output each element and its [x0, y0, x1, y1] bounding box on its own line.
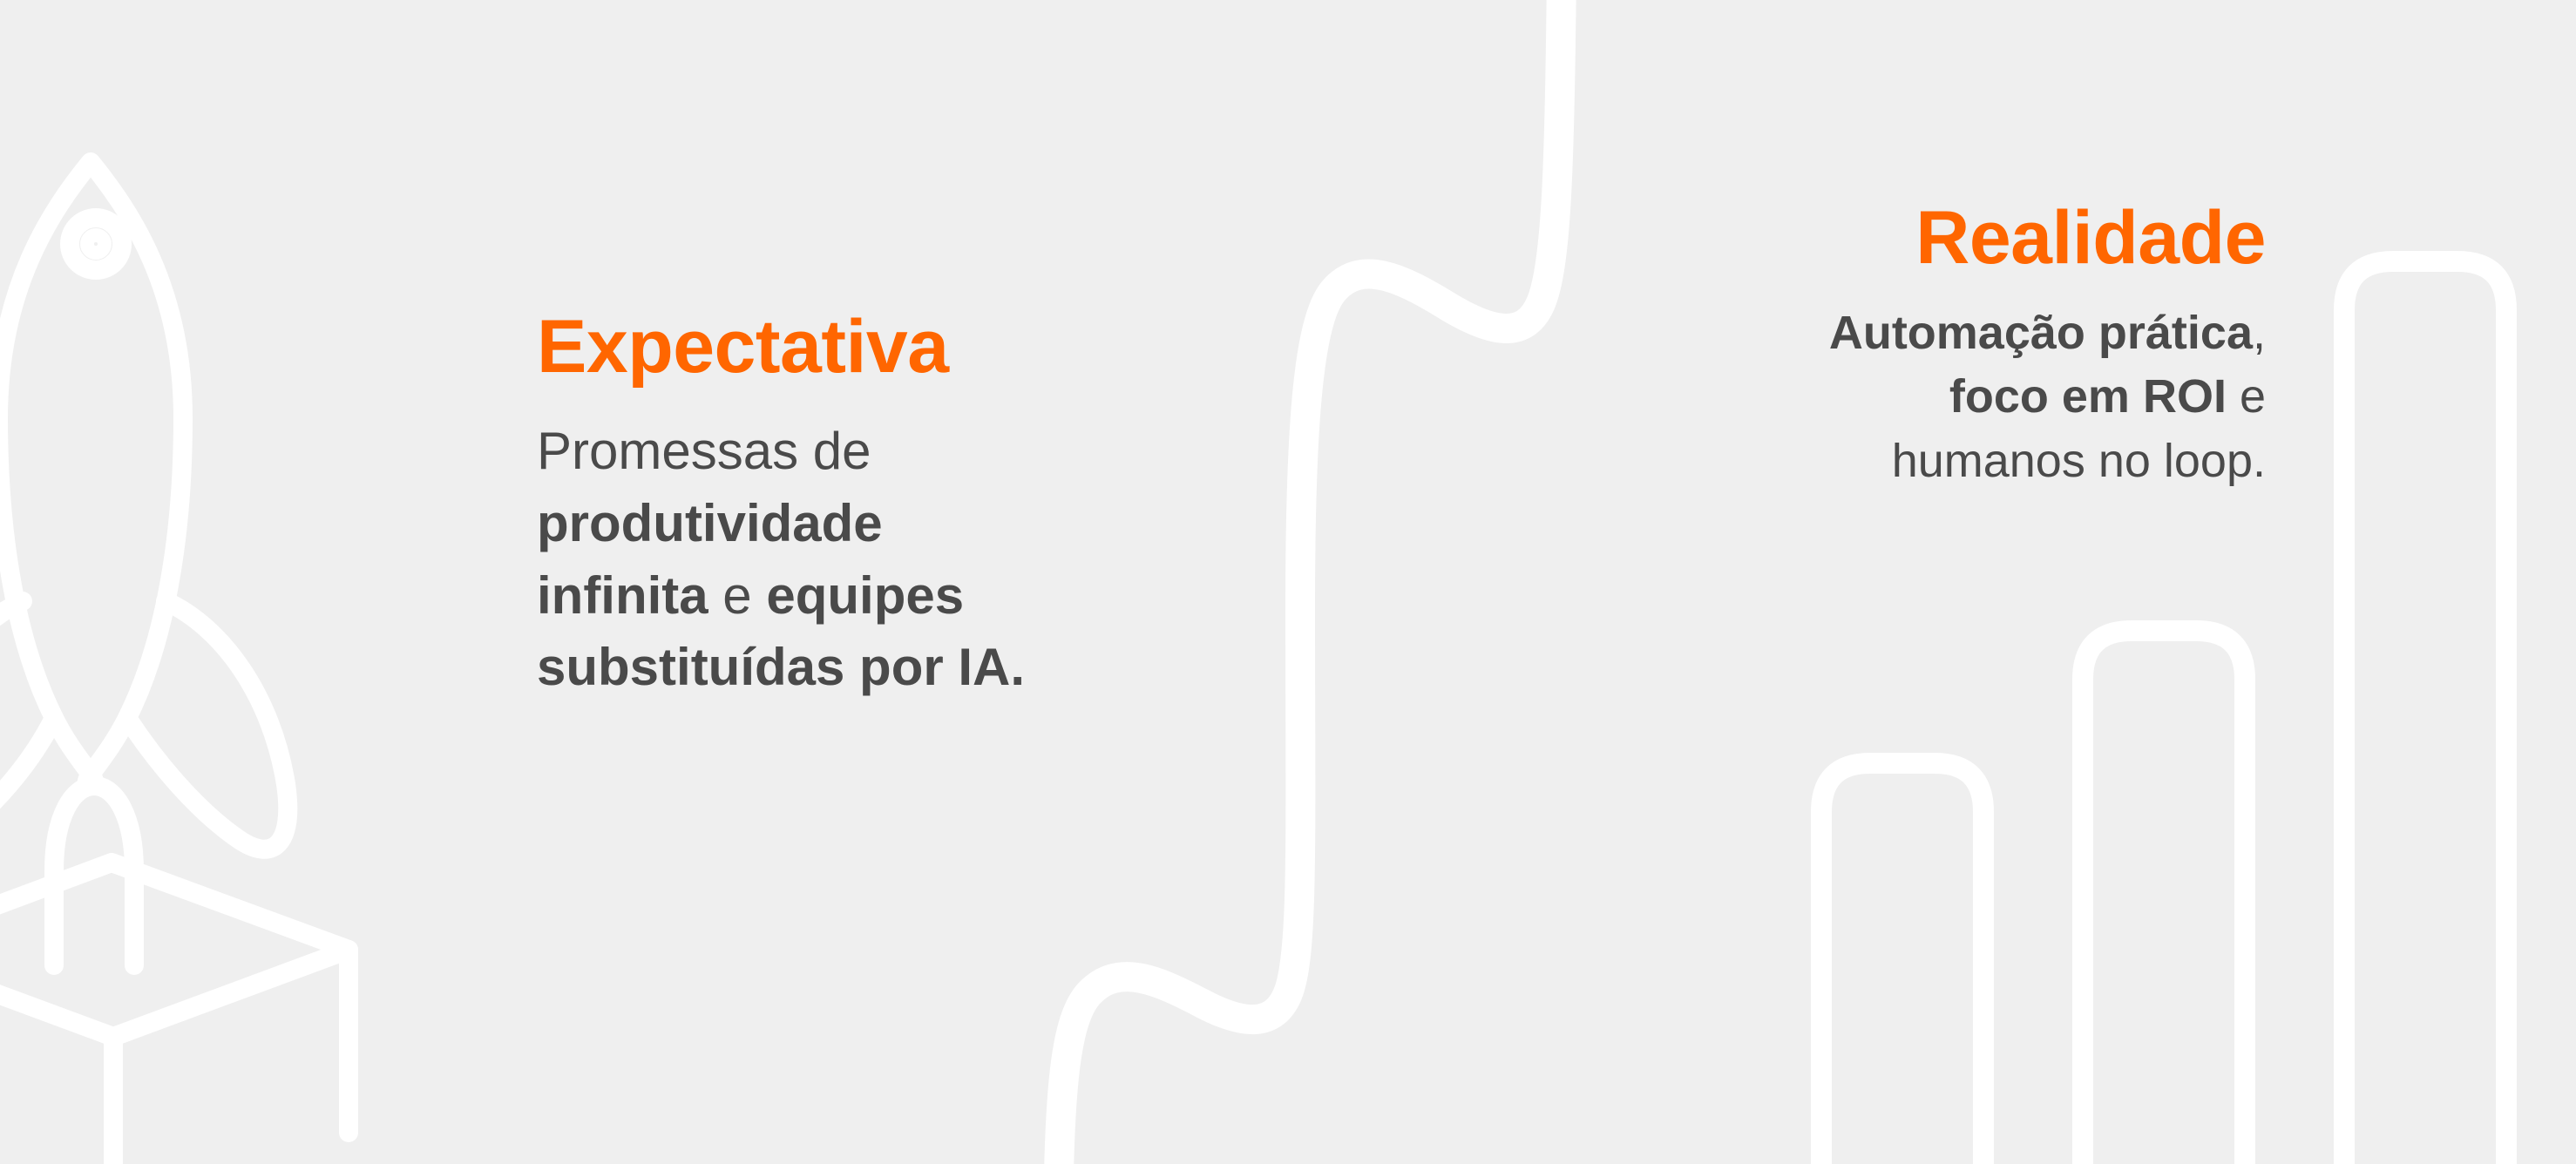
column-expectativa: Expectativa Promessas deprodutividadeinf…: [537, 309, 1199, 704]
body-expectativa: Promessas deprodutividadeinfinita e equi…: [537, 384, 1199, 704]
body-realidade: Automação prática,foco em ROI ehumanos n…: [1560, 275, 2266, 493]
body-r-line-2-segment-1: foco em ROI: [1949, 370, 2227, 423]
heading-expectativa: Expectativa: [537, 309, 1199, 384]
bar-1: [1821, 763, 1983, 1164]
body-r-line-1-segment-2: ,: [2253, 307, 2266, 359]
body-line-2-segment-1: produtividade: [537, 494, 883, 552]
body-r-line-2-segment-2: e: [2227, 370, 2266, 423]
body-r-line-1-segment-1: Automação prática: [1829, 307, 2253, 359]
body-line-3-segment-1: infinita: [537, 566, 708, 625]
decoration-layer: [0, 0, 2576, 1164]
package-cube-illustration: [0, 863, 349, 1164]
body-line-1-segment-1: Promessas de: [537, 422, 871, 480]
heading-realidade: Realidade: [1560, 200, 2266, 275]
promo-banner: Expectativa Promessas deprodutividadeinf…: [0, 0, 2576, 1164]
bar-2: [2083, 631, 2245, 1164]
body-line-3-segment-3: equipes: [766, 566, 964, 625]
body-r-line-3-segment-1: humanos no loop.: [1892, 435, 2266, 487]
column-realidade: Realidade Automação prática,foco em ROI …: [1560, 200, 2266, 493]
bar-3: [2344, 261, 2506, 1164]
body-line-4-segment-1: substituídas por IA.: [537, 638, 1025, 696]
body-line-3-segment-2: e: [708, 566, 767, 625]
rocket-illustration: [0, 162, 288, 965]
